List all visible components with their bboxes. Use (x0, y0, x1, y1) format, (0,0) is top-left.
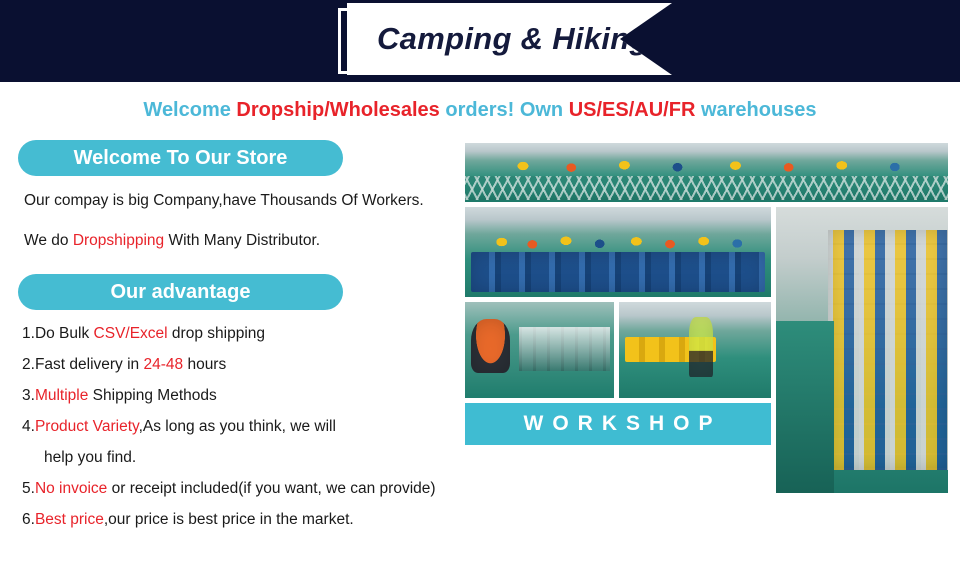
list-item: 3.Multiple Shipping Methods (22, 380, 462, 411)
welcome-text-dropship: Dropship/Wholesales (236, 99, 439, 121)
advantage-4-num: 4. (22, 418, 35, 435)
left-content-column: Welcome To Our Store Our compay is big C… (0, 140, 462, 535)
store-paragraph-2-c: With Many Distributor. (164, 232, 320, 249)
advantage-2-highlight: 24-48 (143, 356, 183, 373)
our-advantage-pill: Our advantage (18, 274, 343, 310)
photo-warehouse-racking-aisle (776, 207, 948, 493)
workshop-label-banner: WORKSHOP (465, 403, 771, 445)
advantage-1-highlight: CSV/Excel (94, 325, 168, 342)
advantage-4-b: ,As long as you think, we will (139, 418, 336, 435)
header-ribbon: Camping & Hiking (347, 3, 672, 75)
welcome-text-part3: orders! Own (440, 99, 569, 121)
advantage-6-num: 6. (22, 511, 35, 528)
advantage-4-highlight: Product Variety (35, 418, 139, 435)
page-title: Camping & Hiking (377, 21, 649, 57)
photo-worker-at-roller-conveyor (619, 302, 771, 398)
advantage-1-b: drop shipping (168, 325, 265, 342)
welcome-store-pill: Welcome To Our Store (18, 140, 343, 176)
store-paragraph-2: We do Dropshipping With Many Distributor… (24, 226, 464, 256)
welcome-text-part1: Welcome (143, 99, 236, 121)
store-paragraph-2-highlight: Dropshipping (73, 232, 164, 249)
advantage-1-num: 1. (22, 325, 35, 342)
welcome-text-warehouse-codes: US/ES/AU/FR (569, 99, 696, 121)
advantage-5-highlight: No invoice (35, 480, 107, 497)
photo-assembly-line-workers (465, 207, 771, 297)
advantage-3-b: Shipping Methods (88, 387, 216, 404)
list-item: 6.Best price,our price is best price in … (22, 504, 462, 535)
photo-packing-station-closeup (465, 302, 614, 398)
list-item: 2.Fast delivery in 24-48 hours (22, 349, 462, 380)
advantage-5-b: or receipt included(if you want, we can … (107, 480, 435, 497)
advantage-3-highlight: Multiple (35, 387, 88, 404)
advantage-6-highlight: Best price (35, 511, 104, 528)
advantage-2-a: Fast delivery in (35, 356, 144, 373)
header-bar: Camping & Hiking (0, 0, 960, 82)
advantage-1-a: Do Bulk (35, 325, 94, 342)
advantage-6-b: ,our price is best price in the market. (104, 511, 354, 528)
store-paragraph-2-a: We do (24, 232, 73, 249)
workshop-photo-collage: WORKSHOP (465, 143, 948, 493)
advantage-2-b: hours (183, 356, 226, 373)
list-item: 4.Product Variety,As long as you think, … (22, 411, 462, 442)
welcome-text-part5: warehouses (695, 99, 816, 121)
photo-factory-floor-conveyors-wide (465, 143, 948, 202)
advantage-2-num: 2. (22, 356, 35, 373)
advantage-3-num: 3. (22, 387, 35, 404)
advantage-list: 1.Do Bulk CSV/Excel drop shipping 2.Fast… (0, 318, 462, 535)
store-paragraph-1: Our compay is big Company,have Thousands… (24, 186, 464, 216)
welcome-banner-text: Welcome Dropship/Wholesales orders! Own … (0, 99, 960, 122)
list-item-continuation: help you find. (44, 442, 462, 473)
advantage-5-num: 5. (22, 480, 35, 497)
list-item: 5.No invoice or receipt included(if you … (22, 473, 462, 504)
list-item: 1.Do Bulk CSV/Excel drop shipping (22, 318, 462, 349)
